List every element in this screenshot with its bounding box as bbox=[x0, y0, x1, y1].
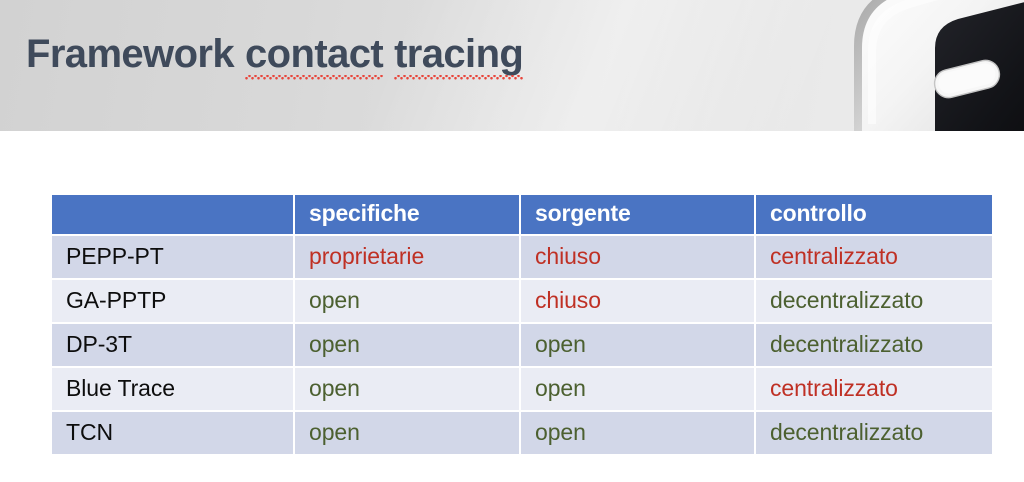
page-title: Frameworkcontacttracing bbox=[26, 32, 523, 77]
title-word-tracing: tracing bbox=[394, 32, 523, 77]
cell-specifiche: open bbox=[295, 368, 519, 410]
row-label-blue-trace: Blue Trace bbox=[52, 368, 293, 410]
table-header: specifiche sorgente controllo bbox=[52, 195, 992, 234]
cell-specifiche: open bbox=[295, 324, 519, 366]
title-banner: Frameworkcontacttracing bbox=[0, 0, 1024, 131]
title-word-contact: contact bbox=[245, 32, 383, 77]
cell-specifiche: proprietarie bbox=[295, 236, 519, 278]
cell-controllo: centralizzato bbox=[756, 368, 992, 410]
cell-specifiche: open bbox=[295, 412, 519, 454]
column-header-framework bbox=[52, 195, 293, 234]
smartphone-photo bbox=[802, 0, 1024, 131]
column-header-controllo: controllo bbox=[756, 195, 992, 234]
cell-controllo: centralizzato bbox=[756, 236, 992, 278]
title-word-framework: Framework bbox=[26, 32, 234, 77]
cell-sorgente: open bbox=[521, 368, 754, 410]
slide-canvas: Frameworkcontacttracing specifiche sorge… bbox=[0, 0, 1024, 482]
cell-sorgente: open bbox=[521, 412, 754, 454]
row-label-ga-pptp: GA-PPTP bbox=[52, 280, 293, 322]
comparison-table-wrapper: specifiche sorgente controllo PEPP-PT pr… bbox=[50, 193, 988, 456]
row-label-dp-3t: DP-3T bbox=[52, 324, 293, 366]
cell-sorgente: open bbox=[521, 324, 754, 366]
column-header-sorgente: sorgente bbox=[521, 195, 754, 234]
table-row: DP-3T open open decentralizzato bbox=[52, 324, 992, 366]
cell-controllo: decentralizzato bbox=[756, 280, 992, 322]
cell-specifiche: open bbox=[295, 280, 519, 322]
cell-sorgente: chiuso bbox=[521, 280, 754, 322]
cell-controllo: decentralizzato bbox=[756, 412, 992, 454]
spellcheck-underline-contact bbox=[245, 75, 383, 80]
table-row: PEPP-PT proprietarie chiuso centralizzat… bbox=[52, 236, 992, 278]
table-row: TCN open open decentralizzato bbox=[52, 412, 992, 454]
table-row: GA-PPTP open chiuso decentralizzato bbox=[52, 280, 992, 322]
table-row: Blue Trace open open centralizzato bbox=[52, 368, 992, 410]
table-body: PEPP-PT proprietarie chiuso centralizzat… bbox=[52, 236, 992, 454]
row-label-tcn: TCN bbox=[52, 412, 293, 454]
column-header-specifiche: specifiche bbox=[295, 195, 519, 234]
table-header-row: specifiche sorgente controllo bbox=[52, 195, 992, 234]
spellcheck-underline-tracing bbox=[394, 75, 523, 80]
cell-sorgente: chiuso bbox=[521, 236, 754, 278]
cell-controllo: decentralizzato bbox=[756, 324, 992, 366]
row-label-pepp-pt: PEPP-PT bbox=[52, 236, 293, 278]
contact-tracing-framework-table: specifiche sorgente controllo PEPP-PT pr… bbox=[50, 193, 994, 456]
